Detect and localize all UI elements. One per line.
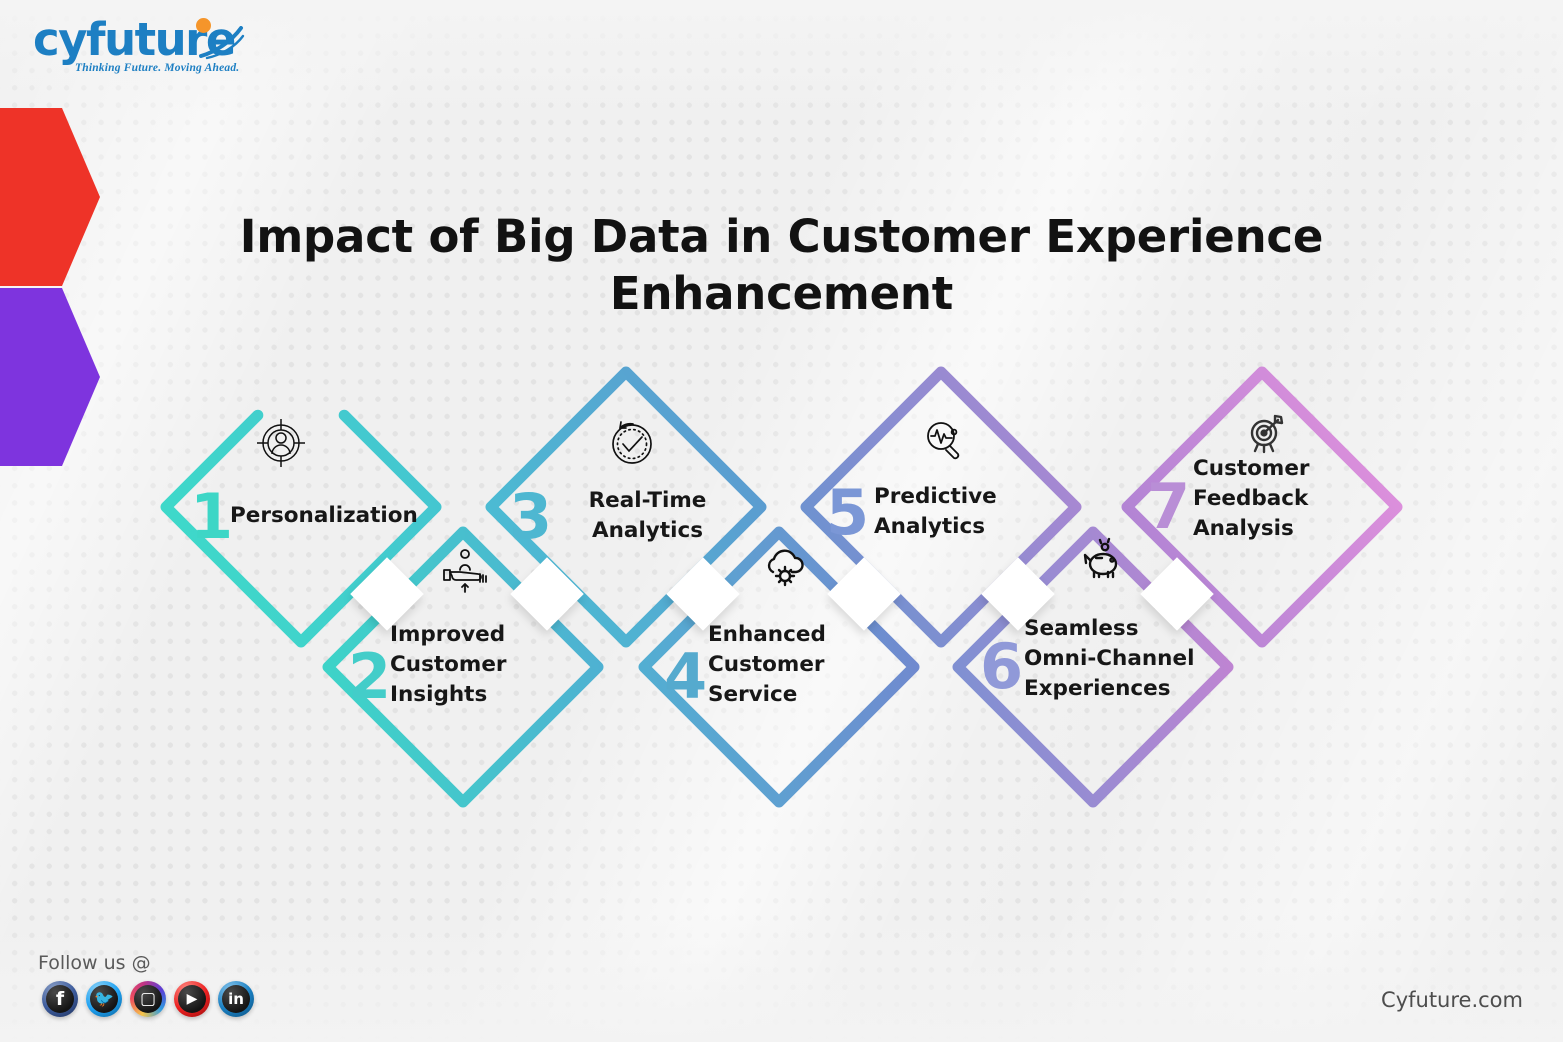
website-url: Cyfuture.com	[1381, 988, 1523, 1012]
linkedin-glyph: in	[228, 992, 244, 1007]
follow-us-label: Follow us @	[38, 952, 151, 974]
magnifier-pulse-icon	[918, 414, 972, 468]
youtube-glyph: ▶	[187, 992, 198, 1006]
step-number-7: 7	[1147, 476, 1189, 538]
cyfuture-logo: cyfuture Thinking Future. Moving Ahead.	[33, 16, 243, 78]
instagram-icon[interactable]: ▢	[130, 981, 166, 1017]
step-number-5: 5	[826, 482, 868, 544]
page-title: Impact of Big Data in Customer Experienc…	[222, 208, 1342, 322]
clock-check-icon	[605, 416, 659, 470]
twitter-icon[interactable]: 🐦	[86, 981, 122, 1017]
infographic-canvas: cyfuture Thinking Future. Moving Ahead. …	[0, 0, 1563, 1042]
step-label-7: Customer Feedback Analysis	[1193, 454, 1373, 544]
step-number-2: 2	[348, 646, 390, 708]
facebook-icon[interactable]: f	[42, 981, 78, 1017]
instagram-glyph: ▢	[140, 991, 156, 1008]
process-flow: 1 Personalization	[0, 330, 1563, 890]
step-number-3: 3	[509, 486, 551, 548]
step-number-4: 4	[664, 646, 706, 708]
social-links: f 🐦 ▢ ▶ in	[42, 981, 254, 1017]
twitter-glyph: 🐦	[94, 991, 114, 1007]
target-person-icon	[254, 416, 308, 470]
logo-swoosh-icon	[197, 26, 245, 60]
linkedin-icon[interactable]: in	[218, 981, 254, 1017]
step-number-6: 6	[980, 636, 1022, 698]
step-number-1: 1	[190, 486, 232, 548]
youtube-icon[interactable]: ▶	[174, 981, 210, 1017]
facebook-glyph: f	[56, 990, 64, 1009]
